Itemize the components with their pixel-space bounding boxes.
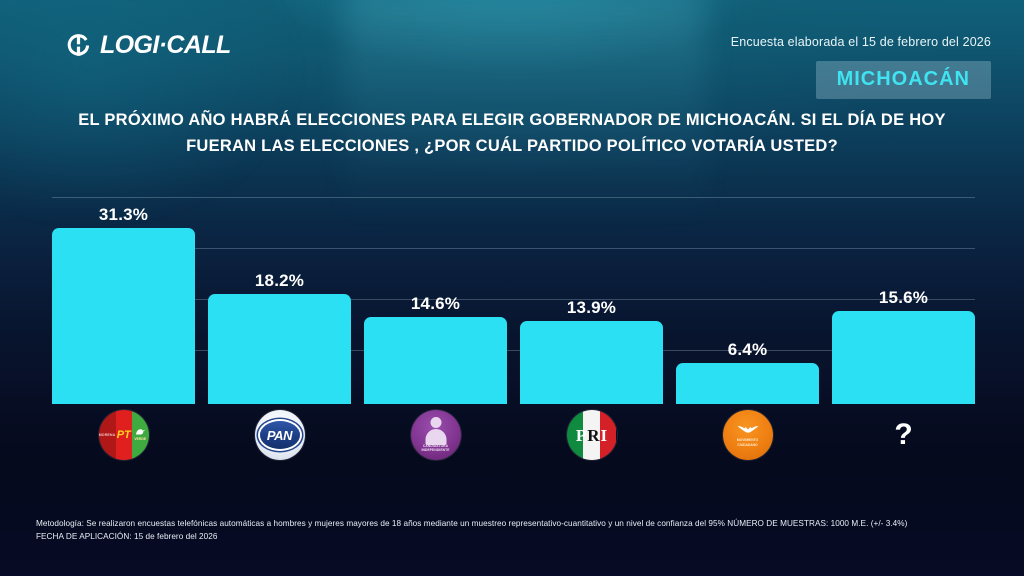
verde-inner: VERDE (134, 428, 146, 441)
methodology-text: Metodología: Se realizaron encuestas tel… (36, 517, 996, 530)
bar-fill[interactable] (520, 321, 663, 404)
person-silhouette-icon (426, 417, 446, 443)
movimiento-ciudadano-logo-icon[interactable]: MOVIMIENTO CIUDADANO (723, 410, 773, 460)
brand-logo: LOGI·CALL (66, 33, 231, 58)
logo-slot-pan[interactable]: PAN (208, 408, 351, 462)
pt-segment: PT (116, 410, 133, 460)
poll-infographic: LOGI·CALL Encuesta elaborada el 15 de fe… (0, 0, 1024, 576)
bar-value-label: 13.9% (567, 299, 616, 316)
bar-value-label: 15.6% (879, 289, 928, 306)
methodology-footer: Metodología: Se realizaron encuestas tel… (36, 517, 996, 544)
pri-logo-icon[interactable]: P R I (567, 410, 617, 460)
poll-question: EL PRÓXIMO AÑO HABRÁ ELECCIONES PARA ELE… (0, 108, 1024, 159)
logo-slot-pri[interactable]: P R I (520, 408, 663, 462)
bar-fill[interactable] (676, 363, 819, 404)
bar-chart: 31.3% 18.2% 14.6% 13.9% 6.4% 15.6% (52, 196, 975, 404)
pan-disc: PAN (260, 421, 300, 449)
coalition-morena-pt-verde-logo-icon[interactable]: MORENA PT VERDE (99, 410, 149, 460)
state-badge: MICHOACÁN (816, 61, 991, 99)
bar-fill[interactable] (208, 294, 351, 404)
bar-fill[interactable] (364, 317, 507, 404)
verde-segment: VERDE (132, 410, 149, 460)
application-date-text: FECHA DE APLICACIÓN: 15 de febrero del 2… (36, 530, 996, 543)
pt-label: PT (117, 430, 131, 441)
bar-item-no-sabe[interactable]: 15.6% (832, 196, 975, 404)
survey-date: Encuesta elaborada el 15 de febrero del … (731, 35, 991, 49)
logo-slot-no-sabe[interactable]: ? (832, 408, 975, 462)
morena-segment: MORENA (99, 410, 116, 460)
bar-fill[interactable] (832, 311, 975, 404)
bar-value-label: 31.3% (99, 206, 148, 223)
state-badge-label: MICHOACÁN (837, 68, 970, 90)
bar-group: 31.3% 18.2% 14.6% 13.9% 6.4% 15.6% (52, 196, 975, 404)
circle-arrow-logo-icon (66, 33, 91, 58)
header: LOGI·CALL Encuesta elaborada el 15 de fe… (0, 0, 1024, 104)
bar-item-pri[interactable]: 13.9% (520, 196, 663, 404)
wings-icon (737, 423, 759, 436)
brand-name: LOGI·CALL (100, 33, 231, 58)
bar-item-movimiento-ciudadano[interactable]: 6.4% (676, 196, 819, 404)
bar-value-label: 18.2% (255, 272, 304, 289)
verde-label: VERDE (134, 438, 146, 441)
question-mark-icon[interactable]: ? (879, 410, 929, 460)
question-mark-glyph: ? (894, 420, 912, 450)
bar-item-candidatura-independiente[interactable]: 14.6% (364, 196, 507, 404)
pan-label: PAN (267, 429, 292, 442)
bar-value-label: 6.4% (728, 341, 768, 358)
pan-logo-icon[interactable]: PAN (255, 410, 305, 460)
bar-fill[interactable] (52, 228, 195, 404)
logo-slot-candidatura-independiente[interactable]: CANDIDATURA INDEPENDIENTE (364, 408, 507, 462)
logo-slot-movimiento-ciudadano[interactable]: MOVIMIENTO CIUDADANO (676, 408, 819, 462)
bar-value-label: 14.6% (411, 295, 460, 312)
morena-label: MORENA (99, 433, 116, 437)
pri-letter-i: I (601, 427, 608, 444)
candidatura-independiente-logo-icon[interactable]: CANDIDATURA INDEPENDIENTE (411, 410, 461, 460)
party-logo-row: MORENA PT VERDE (52, 408, 975, 462)
independiente-label-line2: INDEPENDIENTE (421, 448, 449, 452)
mc-label-line2: CIUDADANO (737, 443, 757, 447)
pri-letter-p: P (576, 427, 586, 444)
logo-slot-morena-pt-verde[interactable]: MORENA PT VERDE (52, 408, 195, 462)
pri-letter-r: R (587, 427, 599, 444)
pri-letters: P R I (567, 410, 617, 460)
bar-item-morena-pt-verde[interactable]: 31.3% (52, 196, 195, 404)
bar-item-pan[interactable]: 18.2% (208, 196, 351, 404)
